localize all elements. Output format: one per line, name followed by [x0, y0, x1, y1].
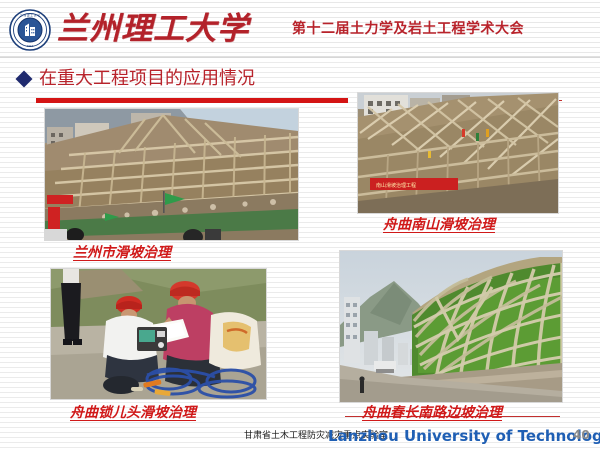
- photo-chunchang: [339, 250, 563, 403]
- slide-canvas: 兰 州 理 工 大 学 1919 兰州理工大学 第十二届土力学及岩土工程学术大会…: [0, 0, 600, 450]
- footer-university-en: Lanzhou University of Technology: [328, 427, 600, 445]
- diamond-bullet-icon: [16, 71, 33, 88]
- header-divider: [0, 56, 600, 58]
- photo-suoertou: [50, 268, 267, 400]
- svg-text:1919: 1919: [27, 44, 34, 48]
- university-seal-icon: 兰 州 理 工 大 学 1919: [9, 9, 51, 51]
- slide-header: 兰 州 理 工 大 学 1919 兰州理工大学 第十二届土力学及岩土工程学术大会: [0, 0, 600, 58]
- section-heading: 在重大工程项目的应用情况: [18, 66, 255, 92]
- caption-photo-lanzhou: 兰州市滑坡治理: [73, 243, 171, 263]
- university-name: 兰州理工大学: [57, 6, 277, 54]
- svg-text:南山滑坡治理工程: 南山滑坡治理工程: [376, 182, 416, 189]
- page-number: 40: [573, 428, 590, 443]
- red-accent-bar: [36, 98, 348, 103]
- svg-text:兰 州 理 工 大 学: 兰 州 理 工 大 学: [20, 13, 40, 17]
- photo-lanzhou: [44, 108, 299, 241]
- photo-nanshan: 南山滑坡治理工程: [357, 92, 559, 214]
- caption-photo-suoertou: 舟曲锁儿头滑坡治理: [70, 403, 196, 423]
- caption-photo-chunchang: 舟曲春长南路边坡治理: [362, 403, 502, 423]
- conference-title: 第十二届土力学及岩土工程学术大会: [292, 20, 524, 38]
- caption-photo-nanshan: 舟曲南山滑坡治理: [383, 215, 495, 235]
- section-heading-label: 在重大工程项目的应用情况: [39, 67, 255, 91]
